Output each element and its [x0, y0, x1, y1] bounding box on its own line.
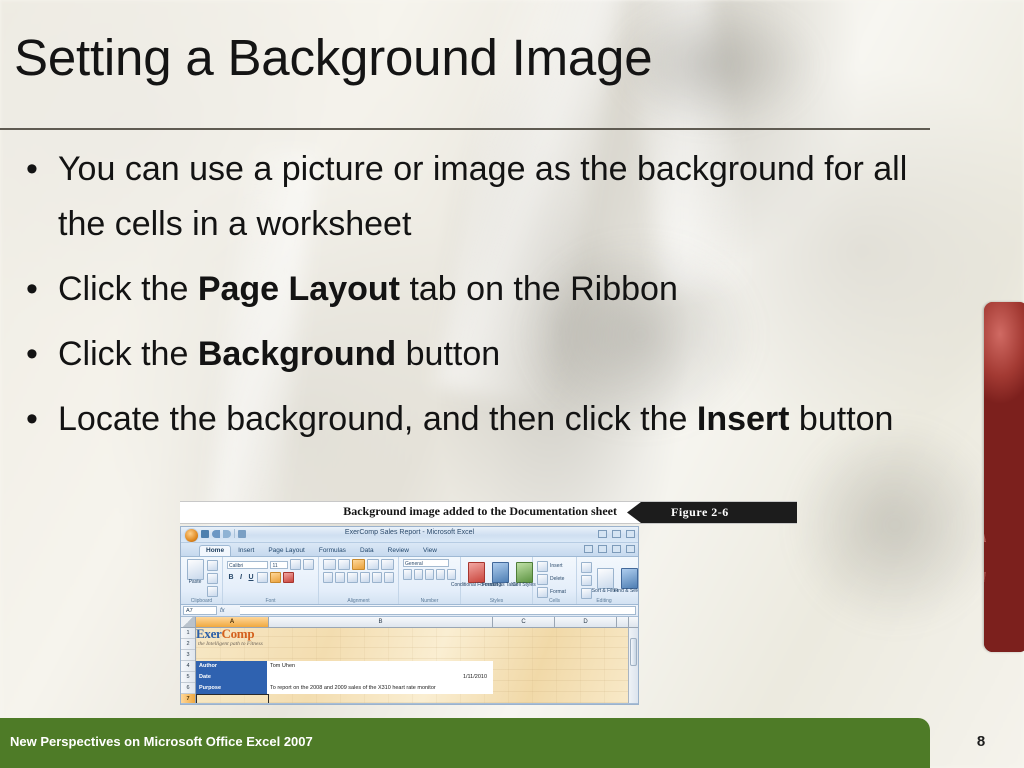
group-label-clipboard: Clipboard	[181, 598, 222, 604]
column-header-d[interactable]: D	[555, 617, 617, 627]
paste-icon[interactable]	[187, 559, 204, 580]
group-label-number: Number	[399, 598, 460, 604]
borders-icon[interactable]	[257, 572, 268, 583]
row-value-purpose: To report on the 2008 and 2009 sales of …	[267, 683, 493, 694]
company-tagline: the Intelligent path to Fitness	[196, 639, 628, 650]
merge-center-icon[interactable]	[384, 572, 394, 583]
currency-icon[interactable]	[403, 569, 412, 580]
table-row: ExerComp	[196, 628, 628, 639]
table-row: Purpose To report on the 2008 and 2009 s…	[196, 683, 628, 694]
slide: Setting a Background Image • You can use…	[0, 0, 1024, 768]
percent-icon[interactable]	[414, 569, 423, 580]
ribbon-group-clipboard: Paste Clipboard	[181, 557, 223, 604]
table-row: Author Tom Uhen	[196, 661, 628, 672]
align-center-icon[interactable]	[335, 572, 345, 583]
close-icon[interactable]	[626, 530, 635, 538]
row-header-column: 1 2 3 4 5 6 7	[181, 628, 196, 703]
group-label-font: Font	[223, 598, 318, 604]
fill-icon[interactable]	[581, 575, 592, 586]
list-item: • You can use a picture or image as the …	[10, 142, 960, 252]
figure-number-tab: Figure 2-6	[627, 502, 797, 523]
row-label-date: Date	[196, 672, 267, 683]
list-item-text: Locate the background, and then click th…	[58, 400, 893, 438]
bullet-list: • You can use a picture or image as the …	[10, 142, 960, 457]
bold-icon[interactable]: B	[227, 574, 235, 581]
sort-filter-icon[interactable]	[597, 568, 614, 589]
insert-cells-icon[interactable]	[537, 561, 548, 572]
excel-status-bar	[181, 703, 638, 705]
align-top-icon[interactable]	[323, 559, 336, 570]
list-item-text: Click the Page Layout tab on the Ribbon	[58, 270, 678, 308]
format-cells-label: Format	[550, 590, 566, 595]
excel-title-bar: ExerComp Sales Report - Microsoft Excel	[181, 527, 638, 543]
column-header-b[interactable]: B	[269, 617, 493, 627]
tab-page-layout[interactable]: Page Layout	[261, 546, 312, 556]
tab-review[interactable]: Review	[381, 546, 416, 556]
page-title: Setting a Background Image	[14, 28, 934, 88]
bullet-marker: •	[26, 327, 38, 382]
delete-cells-icon[interactable]	[537, 574, 548, 585]
group-label-cells: Cells	[533, 598, 576, 604]
column-header-partial[interactable]	[617, 617, 629, 627]
row-header-1[interactable]: 1	[181, 628, 195, 639]
increase-indent-icon[interactable]	[372, 572, 382, 583]
tab-formulas[interactable]: Formulas	[312, 546, 353, 556]
italic-icon[interactable]: I	[237, 574, 245, 581]
ribbon-group-editing: Sort & Filter Find & Select Editing	[577, 557, 631, 604]
bullet-marker: •	[26, 262, 38, 317]
ribbon-tab-strip[interactable]: Home Insert Page Layout Formulas Data Re…	[181, 543, 638, 557]
format-cells-icon[interactable]	[537, 587, 548, 598]
column-header-c[interactable]: C	[493, 617, 555, 627]
number-format-box[interactable]: General	[403, 559, 449, 567]
row-label-purpose: Purpose	[196, 683, 267, 694]
bullet-marker: •	[26, 392, 38, 447]
list-item: • Click the Background button	[10, 327, 960, 382]
list-item: • Locate the background, and then click …	[10, 392, 960, 447]
format-painter-icon[interactable]	[207, 586, 218, 597]
row-label-author: Author	[196, 661, 267, 672]
cell-styles-icon[interactable]	[516, 562, 533, 583]
align-left-icon[interactable]	[323, 572, 333, 583]
table-row	[196, 650, 628, 661]
row-header-6[interactable]: 6	[181, 683, 195, 694]
font-name-box[interactable]: Calibri	[227, 561, 268, 569]
name-box[interactable]: A7	[183, 606, 217, 615]
vertical-scrollbar[interactable]	[628, 628, 638, 703]
decorative-photo-strip	[984, 302, 1024, 652]
underline-icon[interactable]: U	[247, 574, 255, 581]
selected-cell-a7[interactable]	[196, 694, 269, 703]
ribbon-window-controls[interactable]	[584, 545, 635, 553]
title-divider	[0, 128, 930, 130]
find-select-icon[interactable]	[621, 568, 638, 589]
worksheet-cells: 1 2 3 4 5 6 7 ExerComp the Int	[181, 628, 638, 703]
footer-bar: New Perspectives on Microsoft Office Exc…	[0, 718, 930, 768]
decrease-indent-icon[interactable]	[360, 572, 370, 583]
row-header-4[interactable]: 4	[181, 661, 195, 672]
maximize-icon[interactable]	[612, 530, 621, 538]
ribbon-group-number: General Number	[399, 557, 461, 604]
excel-window-title: ExerComp Sales Report - Microsoft Excel	[181, 529, 638, 536]
row-header-2[interactable]: 2	[181, 639, 195, 650]
figure-caption-text: Background image added to the Documentat…	[343, 504, 617, 519]
group-label-alignment: Alignment	[319, 598, 398, 604]
formula-input[interactable]	[240, 606, 636, 615]
close-workbook-icon[interactable]	[626, 545, 635, 553]
page-number: 8	[966, 733, 996, 750]
ribbon: Paste Clipboard Calibri 11	[181, 557, 638, 605]
find-select-label: Find & Select	[614, 589, 639, 594]
list-item-text: You can use a picture or image as the ba…	[58, 150, 907, 243]
row-value-author: Tom Uhen	[267, 661, 493, 672]
row-header-3[interactable]: 3	[181, 650, 195, 661]
select-all-corner[interactable]	[181, 617, 196, 627]
decrease-font-icon[interactable]	[303, 559, 314, 570]
tab-data[interactable]: Data	[353, 546, 381, 556]
bullet-marker: •	[26, 142, 38, 197]
group-label-editing: Editing	[577, 598, 631, 604]
figure-screenshot: Background image added to the Documentat…	[180, 501, 797, 705]
delete-cells-label: Delete	[550, 577, 564, 582]
row-header-7[interactable]: 7	[181, 694, 195, 703]
scrollbar-thumb[interactable]	[630, 638, 637, 666]
function-icon[interactable]: fx	[217, 608, 228, 614]
ribbon-group-alignment: Alignment	[319, 557, 399, 604]
tab-home[interactable]: Home	[199, 545, 231, 556]
wrap-text-icon[interactable]	[381, 559, 394, 570]
list-item-text: Click the Background button	[58, 335, 500, 373]
align-right-icon[interactable]	[347, 572, 357, 583]
ribbon-group-font: Calibri 11 B I U Font	[223, 557, 319, 604]
comma-icon[interactable]	[425, 569, 434, 580]
font-size-box[interactable]: 11	[270, 561, 288, 569]
formula-bar: A7 fx	[181, 605, 638, 617]
align-middle-icon[interactable]	[338, 559, 351, 570]
ribbon-group-styles: Conditional Formatting Format as Table C…	[461, 557, 533, 604]
copy-icon[interactable]	[207, 573, 218, 584]
excel-window: ExerComp Sales Report - Microsoft Excel …	[180, 526, 639, 705]
row-value-date: 1/11/2010	[267, 672, 493, 683]
conditional-formatting-icon[interactable]	[468, 562, 485, 583]
decrease-decimal-icon[interactable]	[447, 569, 456, 580]
fill-color-icon[interactable]	[270, 572, 281, 583]
restore-workbook-icon[interactable]	[612, 545, 621, 553]
table-row: Date 1/11/2010	[196, 672, 628, 683]
insert-cells-label: Insert	[550, 564, 563, 569]
tab-insert[interactable]: Insert	[231, 546, 261, 556]
worksheet-grid: A B C D 1 2 3 4 5 6 7	[181, 617, 638, 703]
table-row: the Intelligent path to Fitness	[196, 639, 628, 650]
photo-strip-highlights	[984, 302, 1024, 652]
ribbon-group-cells: Insert Delete Format Cells	[533, 557, 577, 604]
paste-label: Paste	[189, 580, 202, 585]
orientation-icon[interactable]	[367, 559, 380, 570]
increase-decimal-icon[interactable]	[436, 569, 445, 580]
autosum-icon[interactable]	[581, 562, 592, 573]
group-label-styles: Styles	[461, 598, 532, 604]
minimize-workbook-icon[interactable]	[598, 545, 607, 553]
help-icon[interactable]	[584, 545, 593, 553]
row-header-5[interactable]: 5	[181, 672, 195, 683]
footer-text: New Perspectives on Microsoft Office Exc…	[10, 734, 313, 749]
tab-view[interactable]: View	[416, 546, 444, 556]
increase-font-icon[interactable]	[290, 559, 301, 570]
figure-number-label: Figure 2-6	[671, 505, 729, 520]
format-as-table-icon[interactable]	[492, 562, 509, 583]
list-item: • Click the Page Layout tab on the Ribbo…	[10, 262, 960, 317]
align-bottom-icon[interactable]	[352, 559, 365, 570]
minimize-icon[interactable]	[598, 530, 607, 538]
font-color-icon[interactable]	[283, 572, 294, 583]
figure-caption-bar: Background image added to the Documentat…	[180, 501, 797, 524]
window-controls[interactable]	[598, 530, 635, 538]
cut-icon[interactable]	[207, 560, 218, 571]
